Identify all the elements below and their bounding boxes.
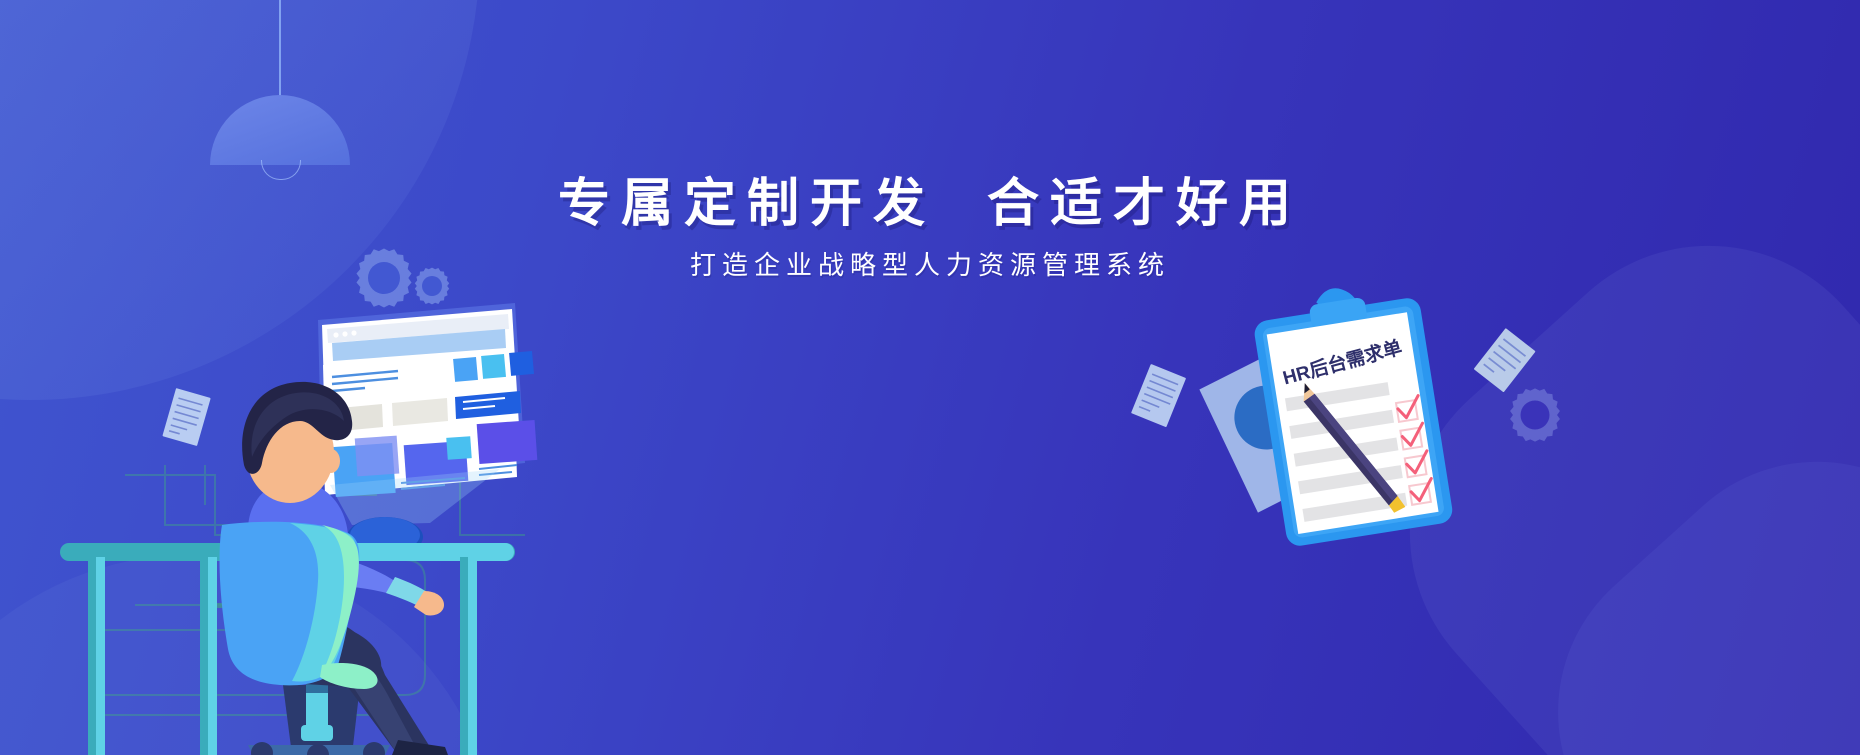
workspace-illustration (0, 285, 640, 755)
banner-subtitle: 打造企业战略型人力资源管理系统 (0, 250, 1860, 281)
lamp-shade (210, 95, 350, 165)
hanging-lamp (210, 0, 350, 165)
floating-doc-center-icon (1130, 364, 1186, 430)
banner-title: 专属定制开发 合适才好用 (0, 176, 1860, 233)
hero-banner: 专属定制开发 合适才好用 打造企业战略型人力资源管理系统 (0, 0, 1860, 755)
background-diagonal-shape-right-2 (1488, 392, 1860, 755)
lamp-cord (279, 0, 281, 100)
clipboard-illustration: HR后台需求单 (1190, 275, 1530, 565)
headline-block: 专属定制开发 合适才好用 打造企业战略型人力资源管理系统 (0, 176, 1860, 281)
clipboard-board: HR后台需求单 (1249, 275, 1454, 547)
